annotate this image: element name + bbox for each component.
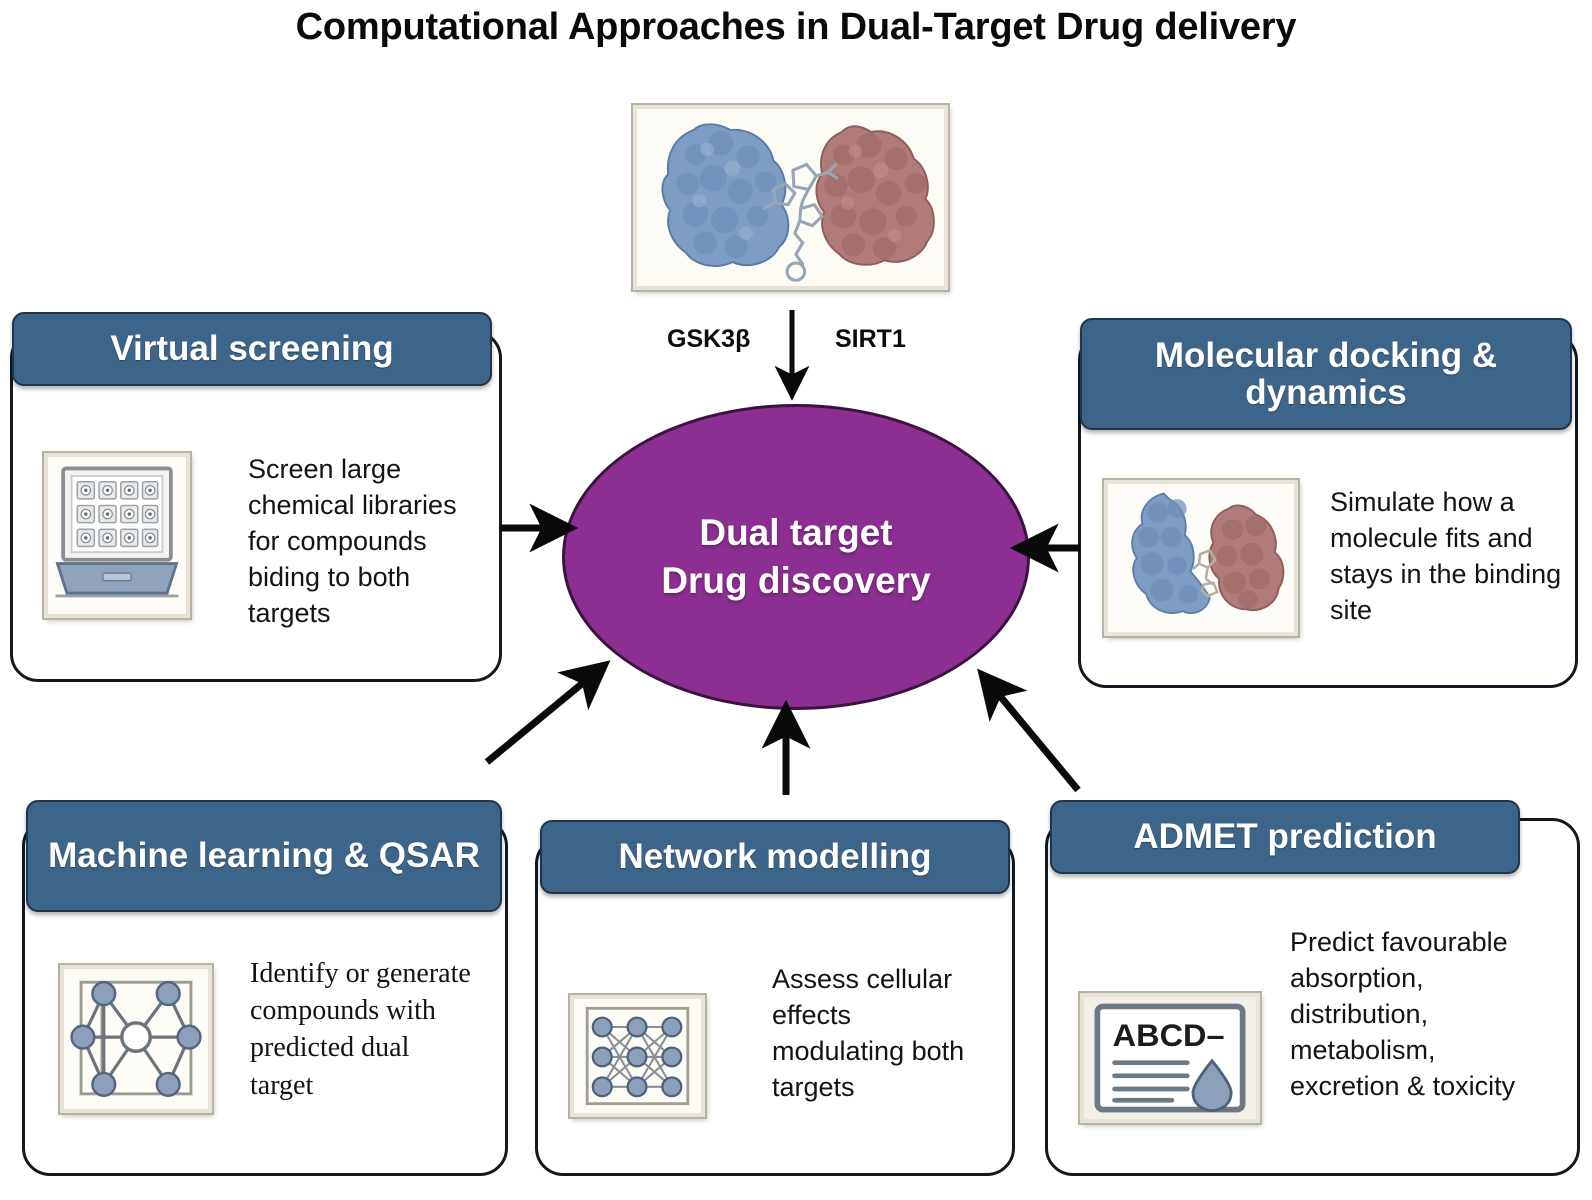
protein-docking-icon	[1104, 480, 1298, 636]
arrow-admet-to-center	[985, 678, 1078, 790]
protein-complex-svg	[637, 109, 944, 286]
dual-protein-ligand-complex-image	[633, 105, 948, 290]
target-label-sirt1: SIRT1	[835, 325, 906, 354]
molecular-graph-svg	[64, 969, 208, 1109]
arrow-ml-qsar-to-center	[487, 668, 601, 762]
card-admet-prediction-header: ADMET prediction	[1050, 800, 1520, 874]
central-node-dual-target-drug-discovery: Dual target Drug discovery	[562, 404, 1030, 710]
neural-network-svg	[574, 999, 701, 1113]
microplate-screen-icon	[44, 453, 190, 618]
admet-report-card-icon: ABCD–	[1080, 993, 1260, 1123]
microplate-screen-svg	[48, 457, 186, 614]
card-machine-learning-qsar-header: Machine learning & QSAR	[26, 800, 502, 912]
card-molecular-docking-dynamics-body: Simulate how a molecule fits and stays i…	[1330, 485, 1580, 629]
page-title: Computational Approaches in Dual-Target …	[0, 6, 1592, 49]
card-admet-prediction-body: Predict favourable absorption, distribut…	[1290, 925, 1580, 1105]
neural-network-icon	[570, 995, 705, 1117]
admet-grade-text: ABCD–	[1113, 1017, 1225, 1053]
card-virtual-screening-header: Virtual screening	[12, 312, 492, 386]
card-machine-learning-qsar-body: Identify or generate compounds with pred…	[250, 955, 488, 1104]
target-label-gsk3b: GSK3β	[667, 325, 750, 354]
card-network-modelling-header: Network modelling	[540, 820, 1010, 894]
card-virtual-screening-body: Screen large chemical libraries for comp…	[248, 452, 478, 632]
admet-report-card-svg: ABCD–	[1084, 997, 1256, 1119]
diagram-canvas: Computational Approaches in Dual-Target …	[0, 0, 1592, 1200]
molecular-graph-icon	[60, 965, 212, 1113]
card-molecular-docking-dynamics-header: Molecular docking & dynamics	[1080, 318, 1572, 430]
card-network-modelling-body: Assess cellular effects modulating both …	[772, 962, 1004, 1106]
protein-docking-svg	[1108, 484, 1294, 632]
